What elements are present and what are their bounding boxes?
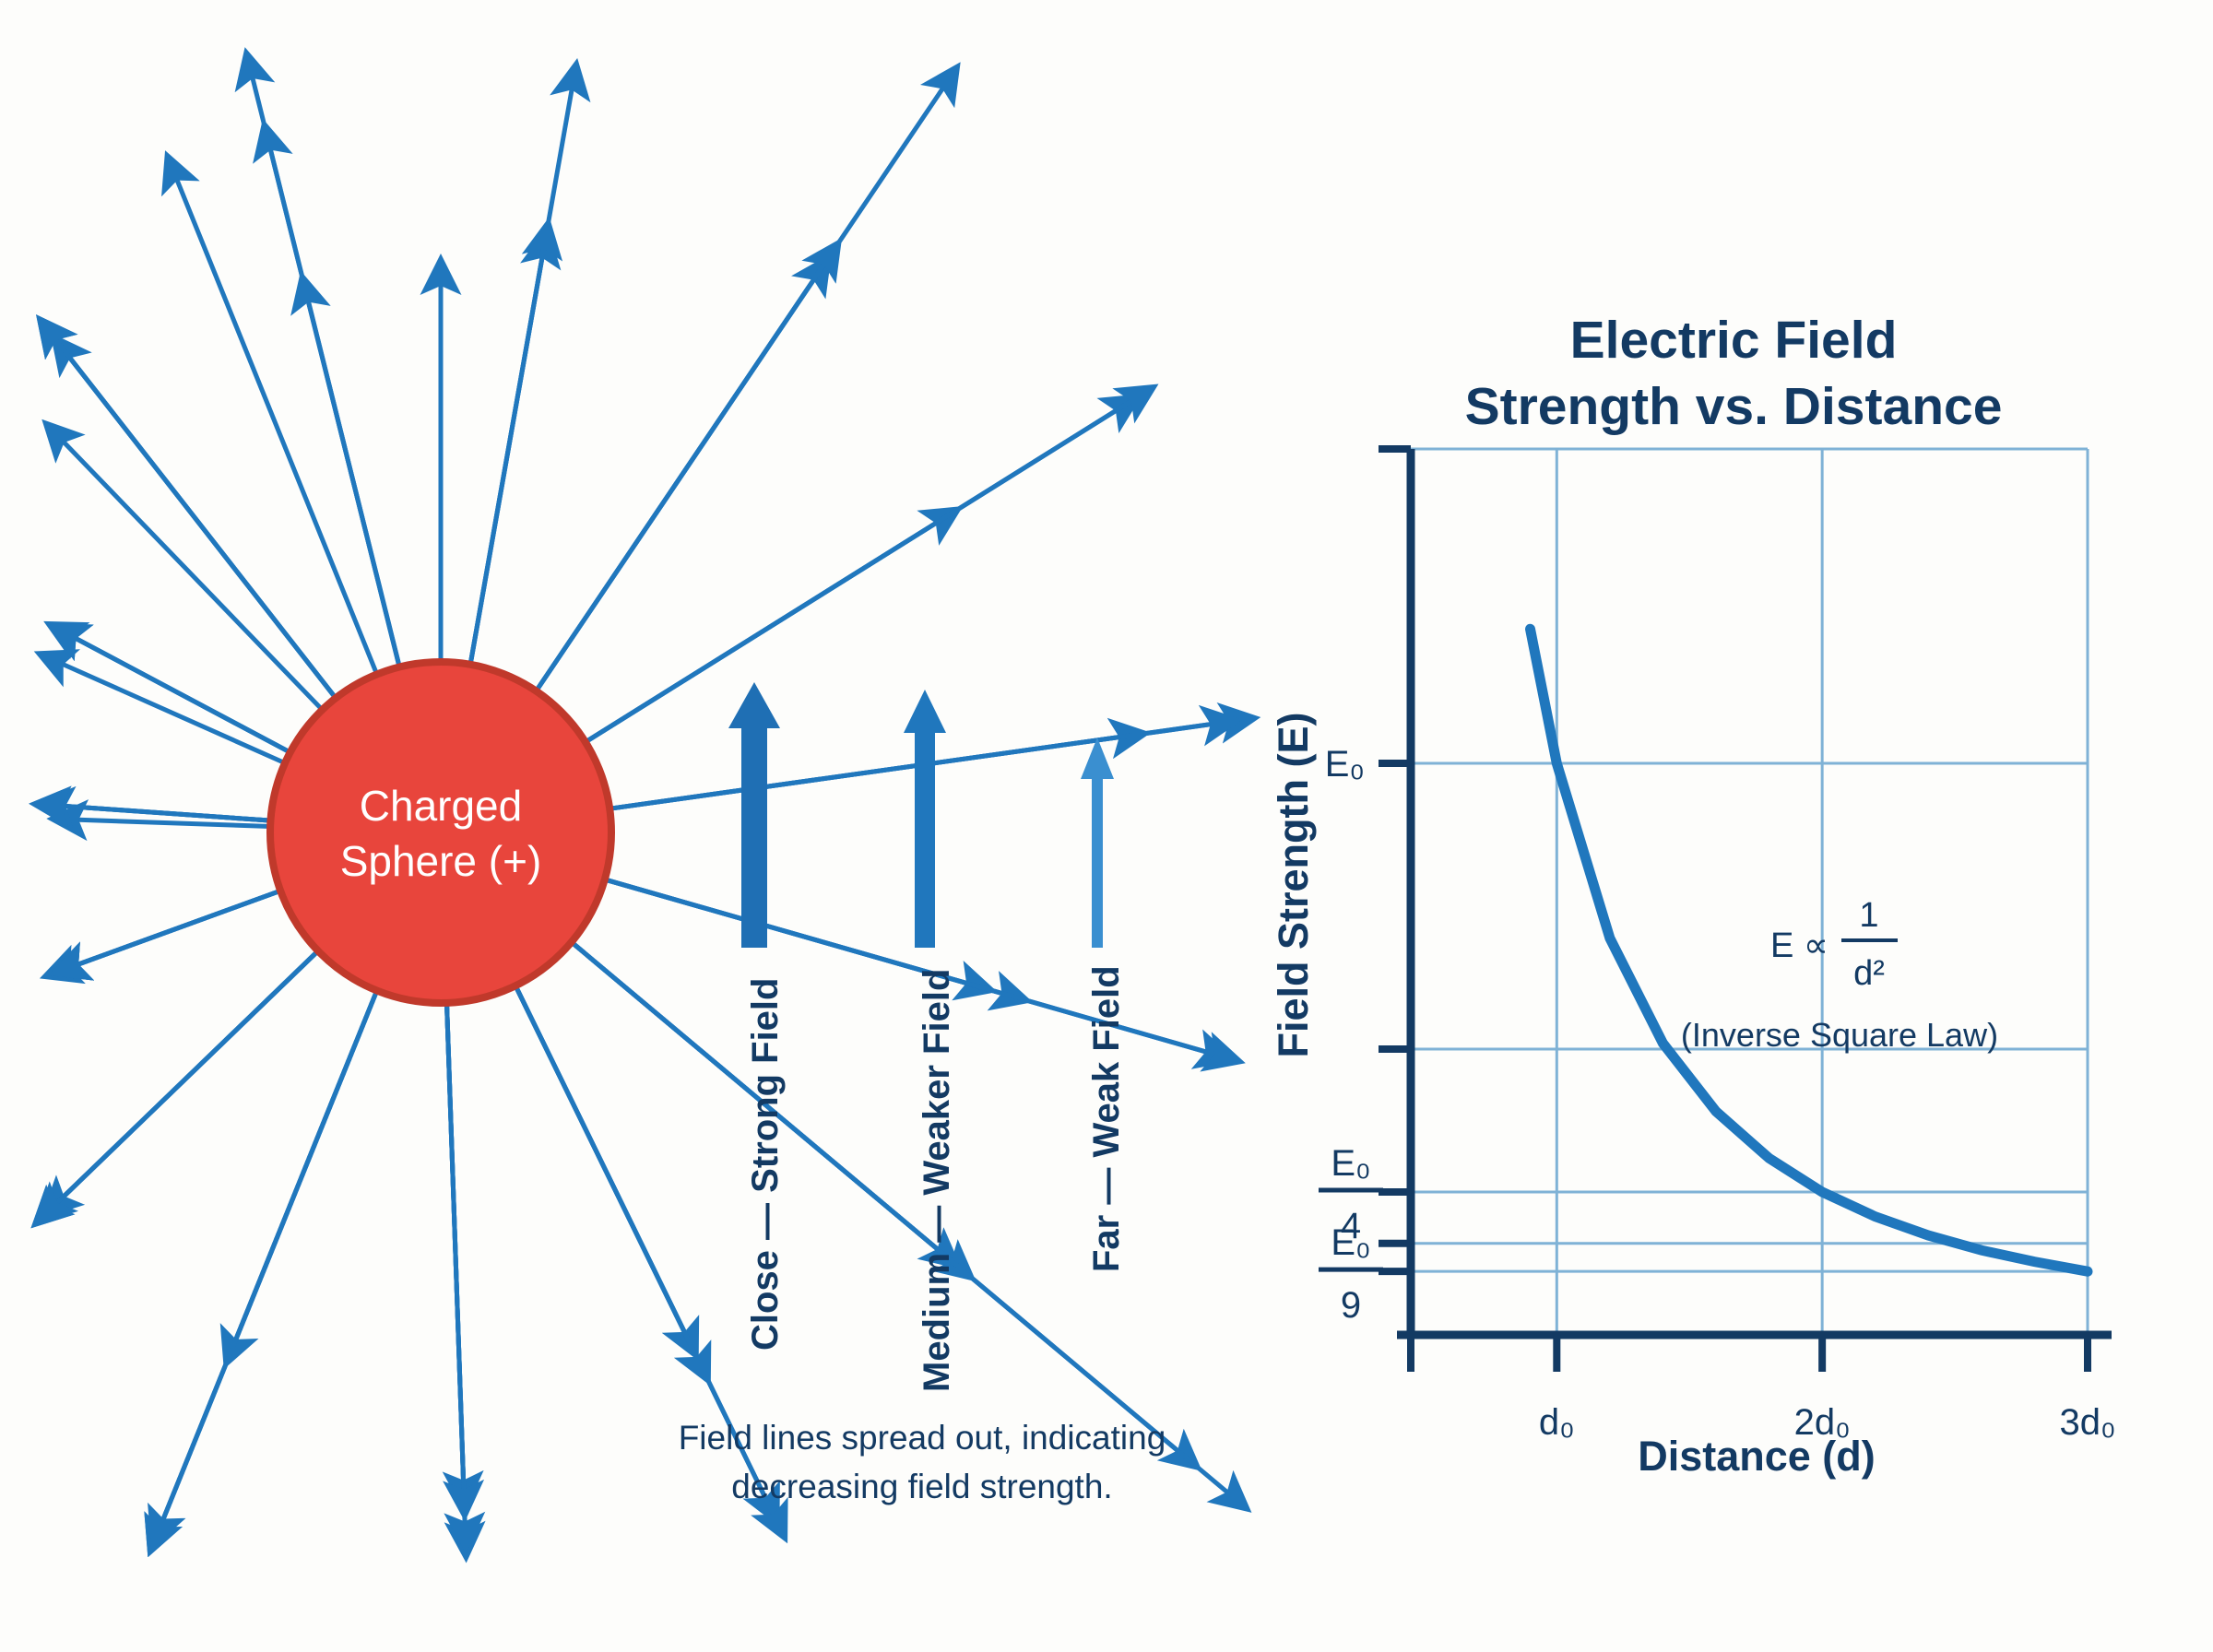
y-tick-numerator: E₀ [1331, 1222, 1370, 1263]
x-tick-label: 3d₀ [2059, 1402, 2115, 1443]
y-axis-title: Field Strength (E) [1270, 713, 1317, 1058]
annotation-formula-lhs: E ∝ [1770, 926, 1828, 965]
y-tick-label: E₀ [1325, 744, 1365, 785]
y-tick-labels: E₀E₀4E₀9 [1319, 744, 1383, 1326]
annotation-subtitle: (Inverse Square Law) [1681, 1016, 1998, 1054]
x-tick-label: d₀ [1539, 1402, 1575, 1443]
inverse-square-annotation: E ∝ 1 d² (Inverse Square Law) [1681, 896, 1998, 1054]
chart-ticks [1379, 449, 2088, 1372]
x-axis-title: Distance (d) [1638, 1433, 1876, 1480]
y-tick-numerator: E₀ [1331, 1143, 1370, 1184]
y-tick-denominator: 9 [1341, 1285, 1361, 1326]
chart-layer: Electric Field Strength vs. Distance E₀E… [0, 0, 2213, 1652]
annotation-formula-numerator: 1 [1859, 896, 1878, 935]
chart-title-line2: Strength vs. Distance [1465, 377, 2003, 436]
chart-title-line1: Electric Field [1570, 311, 1898, 370]
diagram-canvas: Charged Sphere (+) Close — Strong Field … [0, 0, 2213, 1652]
chart-gridlines [1411, 449, 2088, 1335]
annotation-formula-denominator: d² [1853, 954, 1885, 993]
